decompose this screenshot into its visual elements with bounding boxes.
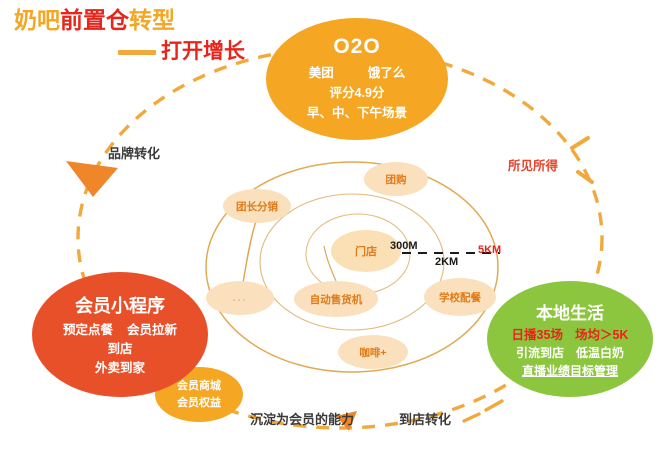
subtitle-text: 打开增长 [161,40,245,64]
subtitle-dash-icon [118,50,156,55]
connector-tuanzhang [243,221,256,283]
flow-label-brand-conversion: 品牌转化 [108,143,160,162]
node-vending-machine[interactable]: 自动售货机 [294,281,378,317]
title-part-1: 奶吧 [14,7,60,33]
member-miniprogram-bubble[interactable]: 会员小程序 预定点餐 会员拉新 到店 外卖到家 [32,272,208,397]
node-school-catering[interactable]: 学校配餐 [424,278,496,316]
node-coffee-plus[interactable]: 咖啡+ [338,335,408,369]
local-tag-milk: 低温白奶 [576,344,624,362]
o2o-scene: 早、中、下午场景 [307,103,407,123]
distance-label-300m: 300M [390,240,418,252]
seen-accent-1 [572,138,588,148]
local-tag-row: 引流到店 低温白奶 [516,344,624,362]
member-tag-row: 预定点餐 会员拉新 [63,321,177,340]
o2o-rating: 评分4.9分 [330,83,385,103]
flow-label-member-capability: 沉淀为会员的能力 [250,409,354,428]
seen-accent-2 [578,172,592,182]
node-leader-distribution[interactable]: 团长分销 [223,189,291,223]
node-group-buy[interactable]: 团购 [364,162,428,196]
distance-label-5km: 5KM [478,244,501,256]
title-part-2: 前置仓 [60,7,129,33]
node-more[interactable]: ... [206,281,274,315]
arrive-accent-2 [486,401,502,410]
flow-label-what-you-see: 所见所得 [508,155,558,174]
member-tag-instore: 到店 [107,340,132,359]
distance-label-2km: 2KM [435,256,458,268]
o2o-bubble[interactable]: O2O 美团 饿了么 评分4.9分 早、中、下午场景 [266,18,448,140]
local-tag-goal: 直播业绩目标管理 [522,362,618,380]
brand-arrow [66,161,118,197]
local-tag-traffic: 引流到店 [516,344,564,362]
local-life-bubble[interactable]: 本地生活 日播35场 场均＞5K 引流到店 低温白奶 直播业绩目标管理 [487,281,653,397]
local-title: 本地生活 [536,299,604,324]
o2o-title: O2O [333,35,380,59]
page-title: 奶吧前置仓转型 [14,6,314,34]
member-tag-acquire: 会员拉新 [127,321,177,340]
o2o-platform-eleme: 饿了么 [368,63,406,83]
member-tag-order: 预定点餐 [63,321,113,340]
local-stat-row: 日播35场 场均＞5K [512,326,629,344]
infographic-canvas: 奶吧前置仓转型 打开增长 O2O 美团 饿了么 评分4.9分 早、中、下午场景 … [0,0,660,476]
mall-line-1: 会员商城 [177,378,221,395]
mall-line-2: 会员权益 [177,395,221,412]
title-part-3: 转型 [129,7,175,33]
local-stat-average: 场均＞5K [575,326,628,344]
flow-label-instore-conversion: 到店转化 [399,409,451,428]
member-title: 会员小程序 [75,292,165,318]
subtitle: 打开增长 [118,40,245,64]
o2o-platform-meituan: 美团 [309,63,334,83]
local-stat-sessions: 日播35场 [512,326,563,344]
arrive-accent-1 [464,414,479,421]
member-tag-delivery: 外卖到家 [95,359,145,378]
o2o-platform-row: 美团 饿了么 [309,63,406,83]
